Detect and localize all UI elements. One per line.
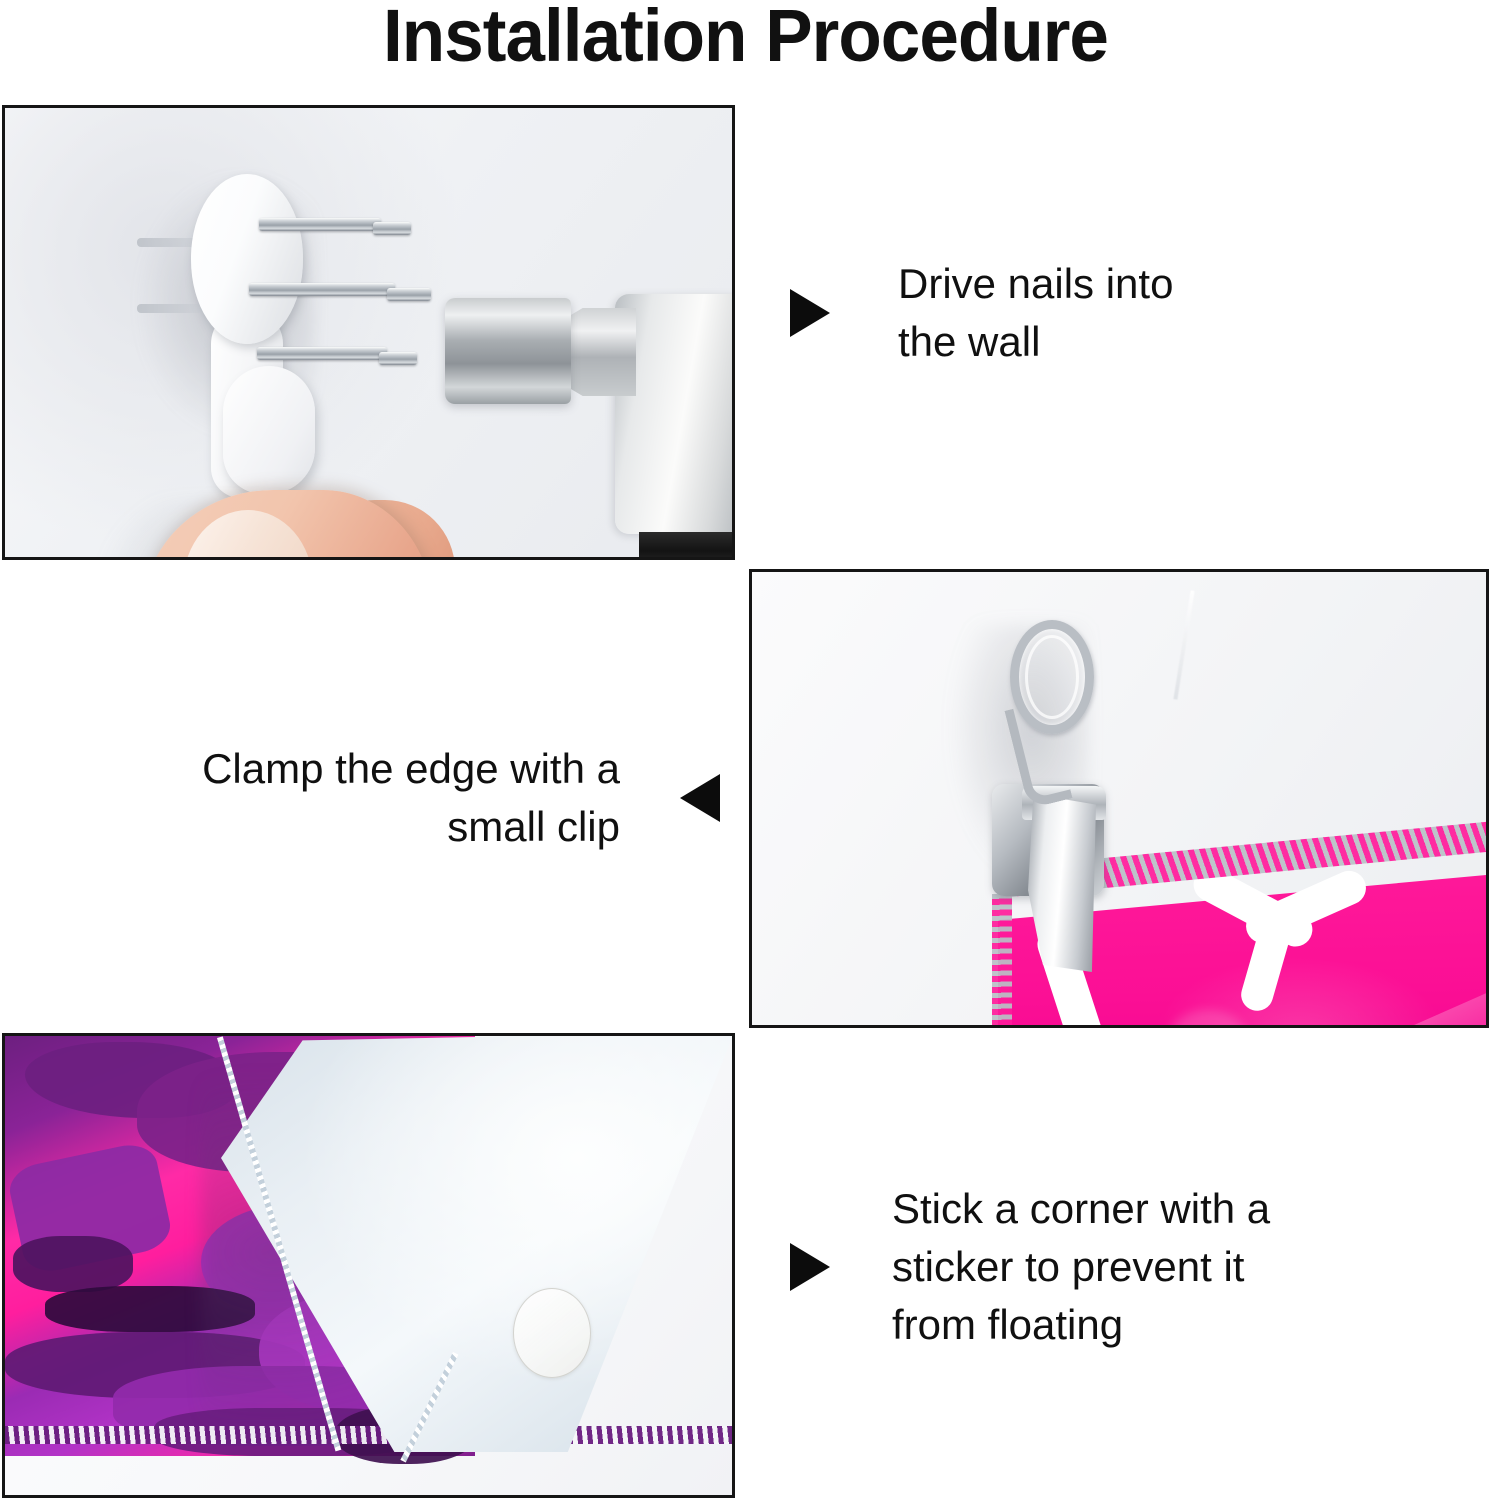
triangle-left-icon (680, 774, 720, 822)
triangle-right-icon (790, 289, 830, 337)
page-title: Installation Procedure (30, 0, 1461, 76)
caption-step-2: Clamp the edge with a small clip (60, 740, 720, 856)
photo-stick-corner-content (5, 1036, 732, 1495)
photo-drive-nails-content (5, 108, 732, 557)
adhesive-sticker (513, 1288, 591, 1378)
photo-clamp-edge-content (752, 572, 1486, 1025)
photo-stick-corner (2, 1033, 735, 1498)
triangle-right-icon (790, 1243, 830, 1291)
caption-step-3-text: Stick a corner with a sticker to prevent… (892, 1180, 1270, 1354)
hook-plate (191, 174, 303, 344)
clip-hanging-ring (1010, 620, 1094, 734)
photo-drive-nails (2, 105, 735, 560)
caption-step-2-text: Clamp the edge with a small clip (202, 740, 620, 856)
nail-top (259, 218, 381, 231)
hook-lip (223, 366, 315, 494)
nail-bottom-tip (379, 352, 417, 365)
hook-slot-lower (137, 304, 203, 313)
nail-top-tip (373, 222, 411, 235)
banner-pattern-shape (13, 1236, 133, 1292)
banner-side-stitching (992, 894, 1012, 1028)
photo-clamp-edge (749, 569, 1489, 1028)
caption-step-1-text: Drive nails into the wall (898, 255, 1173, 371)
hammer-ferrule (639, 532, 735, 560)
nail-middle (249, 283, 395, 296)
hammer-head (445, 298, 571, 404)
nail-middle-tip (387, 288, 431, 301)
caption-step-3: Stick a corner with a sticker to prevent… (790, 1180, 1390, 1354)
caption-step-1: Drive nails into the wall (790, 255, 1330, 371)
nail-bottom (257, 347, 387, 360)
